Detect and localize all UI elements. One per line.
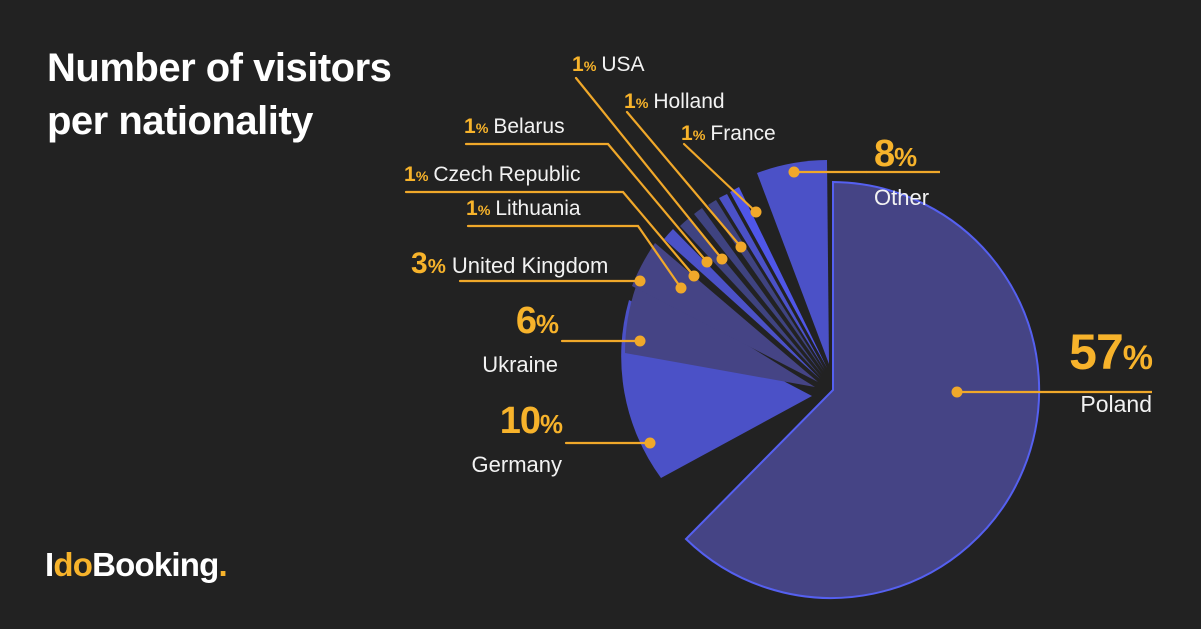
- leader-dot-other: [789, 167, 800, 178]
- label-other-pct: 8%: [874, 135, 1004, 173]
- leader-line-france: [684, 144, 756, 212]
- logo-dot: .: [218, 546, 226, 583]
- label-belarus-name: Belarus: [493, 115, 564, 138]
- leader-dot-belarus: [702, 257, 713, 268]
- leader-dot-holland: [736, 242, 747, 253]
- leader-dot-germany: [645, 438, 656, 449]
- label-usa-name: USA: [601, 53, 644, 76]
- logo-part-booking: Booking: [92, 546, 218, 583]
- infographic-canvas: Number of visitors per nationality: [0, 0, 1201, 629]
- label-holland-name: Holland: [653, 90, 724, 113]
- label-france-name: France: [710, 122, 775, 145]
- leader-dot-ukraine: [635, 336, 646, 347]
- pie-chart: [0, 0, 1201, 629]
- label-other-name: Other: [874, 187, 1004, 209]
- leader-dot-united-kingdom: [635, 276, 646, 287]
- label-germany-name: Germany: [420, 454, 562, 476]
- label-germany[interactable]: 10% Germany: [420, 402, 562, 476]
- label-holland[interactable]: 1%Holland: [624, 91, 725, 112]
- label-united-kingdom-name: United Kingdom: [452, 253, 609, 278]
- label-poland-name: Poland: [1000, 393, 1152, 416]
- label-united-kingdom-pct: 3%: [411, 247, 446, 280]
- label-lithuania-pct: 1%: [466, 197, 490, 220]
- label-united-kingdom[interactable]: 3%United Kingdom: [411, 249, 608, 279]
- label-czech-republic[interactable]: 1%Czech Republic: [404, 164, 580, 185]
- label-poland[interactable]: 57% Poland: [1000, 327, 1152, 416]
- label-holland-pct: 1%: [624, 90, 648, 113]
- pie-slice-other[interactable]: [757, 160, 829, 364]
- label-germany-pct: 10%: [420, 402, 562, 440]
- label-lithuania-name: Lithuania: [495, 197, 580, 220]
- leader-dot-poland: [952, 387, 963, 398]
- label-poland-pct: 57%: [1000, 327, 1152, 377]
- label-usa-pct: 1%: [572, 53, 596, 76]
- label-ukraine-pct: 6%: [430, 302, 558, 340]
- leader-dot-czech-republic: [689, 271, 700, 282]
- label-france[interactable]: 1%France: [681, 123, 776, 144]
- label-belarus-pct: 1%: [464, 115, 488, 138]
- leader-dot-usa: [717, 254, 728, 265]
- label-belarus[interactable]: 1%Belarus: [464, 116, 565, 137]
- label-usa[interactable]: 1%USA: [572, 54, 645, 75]
- label-lithuania[interactable]: 1%Lithuania: [466, 198, 581, 219]
- label-ukraine-name: Ukraine: [430, 354, 558, 376]
- label-czech-republic-name: Czech Republic: [433, 163, 580, 186]
- leader-dot-lithuania: [676, 283, 687, 294]
- brand-logo[interactable]: IdoBooking.: [45, 548, 227, 581]
- label-czech-republic-pct: 1%: [404, 163, 428, 186]
- label-france-pct: 1%: [681, 122, 705, 145]
- pie-slices: [621, 160, 1039, 598]
- label-other[interactable]: 8% Other: [874, 135, 1004, 209]
- logo-part-do: do: [53, 546, 92, 583]
- leader-dot-france: [751, 207, 762, 218]
- label-ukraine[interactable]: 6% Ukraine: [430, 302, 558, 376]
